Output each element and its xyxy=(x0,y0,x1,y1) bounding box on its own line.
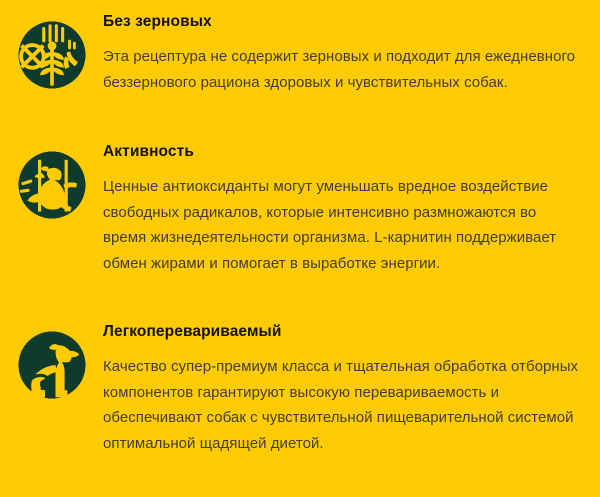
activity-dog-jumping-icon xyxy=(17,150,87,220)
feature-icon-container xyxy=(0,142,103,220)
feature-title: Активность xyxy=(103,142,587,161)
feature-text-container: Легкоперевариваемый Качество супер-преми… xyxy=(103,322,600,456)
features-panel: Без зерновых Эта рецептура не содержит з… xyxy=(0,0,600,497)
feature-icon-container xyxy=(0,322,103,400)
feature-description: Ценные антиоксиданты могут уменьшать вре… xyxy=(103,174,579,276)
feature-item-easy-digestion: Легкоперевариваемый Качество супер-преми… xyxy=(0,322,600,456)
grain-free-icon xyxy=(17,20,87,90)
feature-description: Эта рецептура не содержит зерновых и под… xyxy=(103,44,579,95)
feature-description: Качество супер-премиум класса и тщательн… xyxy=(103,354,579,456)
feature-icon-container xyxy=(0,12,103,90)
feature-item-grain-free: Без зерновых Эта рецептура не содержит з… xyxy=(0,12,600,95)
feature-item-activity: Активность Ценные антиоксиданты могут ум… xyxy=(0,142,600,276)
feature-title: Без зерновых xyxy=(103,12,587,31)
feature-text-container: Активность Ценные антиоксиданты могут ум… xyxy=(103,142,600,276)
feature-text-container: Без зерновых Эта рецептура не содержит з… xyxy=(103,12,600,95)
feature-title: Легкоперевариваемый xyxy=(103,322,587,341)
easy-digestion-dog-icon xyxy=(17,330,87,400)
